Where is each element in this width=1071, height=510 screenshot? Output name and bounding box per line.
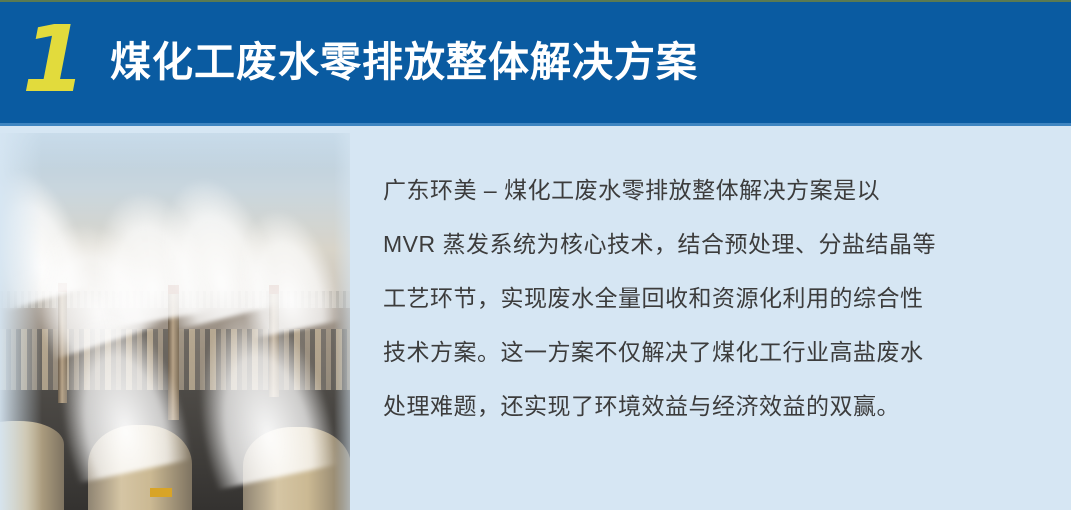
body-line-4: 技术方案。这一方案不仅解决了煤化工行业高盐废水 — [383, 325, 983, 379]
slide-root: 1 煤化工废水零排放整体解决方案 广东环美 – 煤化工废水零排放整体解决方案是以 — [0, 0, 1071, 510]
body-line-2: MVR 蒸发系统为核心技术，结合预处理、分盐结晶等 — [383, 217, 983, 271]
plant-structure-yellow — [150, 488, 172, 497]
photo-fade-right — [334, 133, 350, 510]
header-underline — [0, 123, 1071, 126]
body-line-5: 处理难题，还实现了环境效益与经济效益的双赢。 — [383, 379, 983, 433]
photo-fade-top — [0, 133, 350, 169]
body-copy: 广东环美 – 煤化工废水零排放整体解决方案是以 MVR 蒸发系统为核心技术，结合… — [383, 163, 983, 433]
body-line-1: 广东环美 – 煤化工废水零排放整体解决方案是以 — [383, 163, 983, 217]
body-line-3: 工艺环节，实现废水全量回收和资源化利用的综合性 — [383, 271, 983, 325]
industrial-plant-photo — [0, 133, 350, 510]
photo-fade-left — [0, 133, 42, 510]
page-title: 煤化工废水零排放整体解决方案 — [110, 36, 698, 88]
section-number: 1 — [22, 14, 84, 106]
